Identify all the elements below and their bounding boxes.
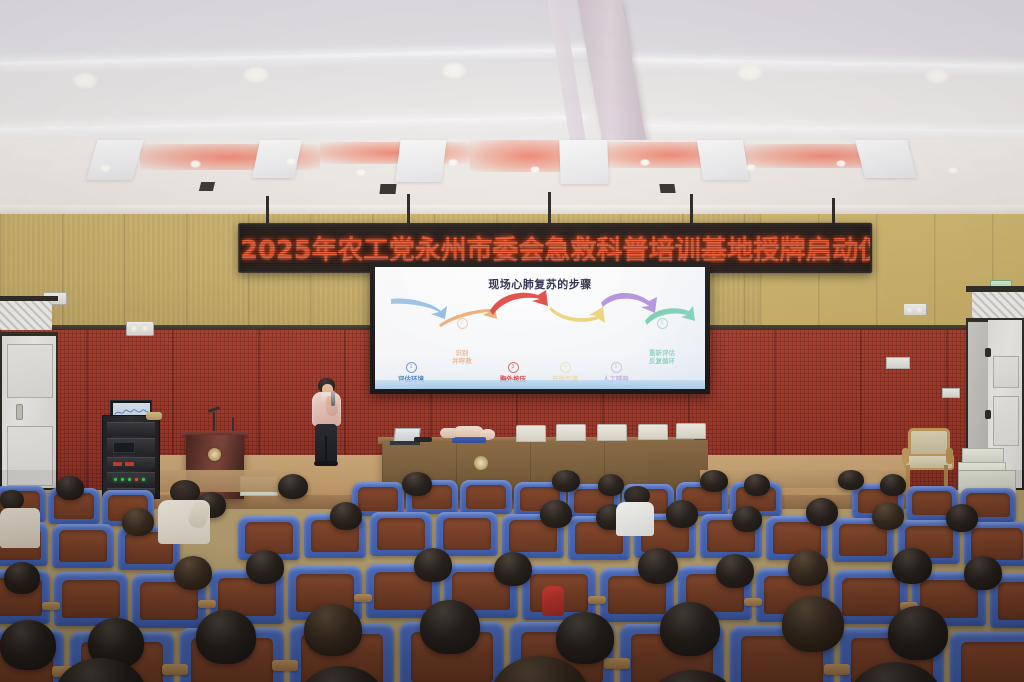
audience-head	[552, 470, 580, 492]
audience-head	[56, 476, 84, 500]
rack-display	[113, 442, 135, 453]
banner-suspension-rod	[690, 194, 693, 226]
emergency-light-fixture	[903, 303, 927, 316]
audience-head	[880, 474, 906, 496]
soffit-spotlight	[356, 169, 366, 176]
seat-armrest	[744, 598, 762, 606]
handheld-microphone[interactable]	[331, 391, 335, 406]
audience-head	[666, 500, 698, 528]
wall-sign-plate	[886, 357, 910, 369]
banner-suspension-rod	[832, 198, 835, 226]
audience-head	[174, 556, 212, 590]
ceiling-fin	[86, 140, 143, 180]
door-panel	[993, 356, 1019, 388]
banner-suspension-rod	[548, 192, 551, 226]
person-white-shirt	[616, 502, 654, 536]
audience-person-red-sleeve	[536, 580, 570, 620]
white-chair	[638, 424, 668, 440]
seat-cushion	[773, 522, 821, 554]
lectern-emblem	[208, 448, 221, 461]
door-hinge	[985, 410, 991, 419]
white-chair	[676, 423, 706, 439]
audience-head	[246, 550, 284, 584]
ceiling-speaker	[659, 184, 675, 193]
seat-armrest	[824, 664, 850, 675]
manikin-base-pad	[452, 437, 486, 443]
audience-head	[872, 502, 904, 530]
emergency-light-fixture	[126, 321, 154, 336]
audience-head	[4, 562, 40, 594]
ceiling-downlight	[441, 62, 467, 79]
seat-cushion	[961, 642, 1024, 682]
table-row[interactable]	[460, 480, 512, 514]
audience-head	[892, 548, 932, 584]
seat-cushion	[466, 485, 507, 509]
audience-head	[782, 596, 844, 652]
audience-head	[788, 550, 828, 586]
soffit-spotlight	[286, 158, 296, 165]
seat-armrest	[162, 664, 188, 675]
door-transom-grille-right	[972, 292, 1024, 318]
presenter	[306, 378, 344, 466]
white-chair	[597, 424, 627, 441]
seat-cushion	[62, 580, 120, 619]
audience-head	[964, 556, 1002, 590]
seat-cushion	[245, 522, 293, 554]
rack-button[interactable]	[125, 462, 134, 466]
seat-back	[460, 480, 512, 514]
emergency-lamp	[906, 306, 913, 313]
seat-cushion	[377, 518, 425, 550]
cpr-manikin[interactable]	[440, 424, 498, 444]
door-hinge	[985, 348, 991, 357]
wall-sign-plate	[942, 388, 960, 398]
presenter-trouser-split	[325, 436, 327, 462]
seat-back	[436, 512, 498, 556]
audience-head	[122, 508, 154, 536]
screen-glare	[375, 267, 705, 389]
audience-head	[304, 604, 362, 656]
seat-back	[950, 632, 1024, 682]
projection-screen: 现场心肺复苏的步骤 1 评估环境	[375, 267, 705, 389]
door-transom-grille-left	[0, 300, 52, 330]
door-frame-left	[0, 332, 58, 490]
seat-cushion	[998, 582, 1024, 621]
rack-unit	[107, 422, 155, 436]
audience-seating	[0, 470, 1024, 682]
demo-table-emblem	[474, 456, 488, 470]
soffit-spotlight	[448, 159, 458, 166]
soffit-spotlight	[530, 166, 540, 173]
ceiling-fin	[559, 140, 609, 184]
audience-head	[414, 548, 452, 582]
projection-screen-frame: 现场心肺复苏的步骤 1 评估环境	[370, 262, 710, 394]
emergency-lamp	[141, 324, 149, 332]
cove-light-strip-right-lower	[636, 124, 1024, 133]
ceiling-speaker	[199, 182, 215, 191]
soffit-spotlight	[836, 160, 846, 167]
audience-head	[638, 548, 678, 584]
ceiling-downlight	[925, 68, 949, 84]
soffit-spotlight	[746, 164, 756, 171]
table-dark-item	[414, 437, 432, 442]
audience-head	[700, 470, 728, 492]
soffit-spotlight	[640, 159, 650, 166]
rack-unit	[107, 438, 155, 455]
presenter-shoes	[314, 461, 338, 466]
seat-armrest	[272, 660, 298, 671]
table-row[interactable]	[436, 512, 498, 556]
person-hair	[0, 490, 24, 510]
ceiling-fin	[697, 140, 749, 180]
audience-person-side	[0, 490, 46, 550]
seat-back	[52, 524, 114, 568]
table-row[interactable]	[52, 524, 114, 568]
seat-armrest	[198, 600, 216, 608]
banner-suspension-rod	[407, 194, 410, 226]
audience-head	[540, 500, 572, 528]
table-row[interactable]	[950, 632, 1024, 682]
white-chair	[516, 425, 546, 442]
person-red-sleeve	[542, 586, 564, 616]
ceiling-downlight	[72, 72, 98, 89]
banner-suspension-rod	[266, 196, 269, 226]
seat-cushion	[358, 487, 399, 511]
door-header-left	[0, 296, 58, 301]
seat-armrest	[42, 602, 60, 610]
door-handle[interactable]	[16, 404, 23, 420]
audience-head	[278, 474, 308, 499]
door-panel	[7, 344, 53, 398]
audience-head	[838, 470, 864, 490]
audience-head	[494, 552, 532, 586]
person-jacket	[0, 508, 40, 548]
soffit-spotlight	[948, 167, 958, 174]
seat-armrest	[604, 658, 630, 669]
audience-head	[806, 498, 838, 526]
white-chair	[556, 424, 586, 441]
audience-head	[888, 606, 948, 660]
audience-person-side	[152, 480, 218, 546]
seat-armrest	[588, 596, 606, 604]
door-header-right	[966, 286, 1024, 292]
audience-head	[732, 506, 762, 532]
audience-head	[330, 502, 362, 530]
rack-unit	[107, 457, 155, 470]
audience-head	[716, 554, 754, 588]
photo-scene: 2025年农工党永州市委会急救科普培训基地授牌启动仪式 现场心肺复苏的步骤	[0, 0, 1024, 682]
ceiling-fin	[855, 140, 917, 178]
manikin-legs	[440, 428, 456, 438]
audience-head	[744, 474, 770, 496]
rack-button[interactable]	[113, 462, 122, 466]
ceiling-speaker	[379, 184, 396, 194]
ceiling-fin	[395, 140, 446, 182]
ceiling-downlight	[243, 66, 269, 83]
audience-person-white-shirt	[614, 486, 656, 538]
ceiling-downlight	[737, 64, 763, 81]
audience-head	[0, 620, 56, 670]
emergency-lamp	[130, 324, 138, 332]
door-left[interactable]	[2, 336, 56, 488]
audience-head	[420, 600, 480, 654]
seat-cushion	[443, 518, 491, 550]
soffit-spotlight	[190, 160, 201, 168]
emergency-lamp	[916, 306, 923, 313]
audience-head	[402, 472, 432, 496]
soffit-spotlight	[100, 164, 111, 172]
seat-cushion	[971, 528, 1022, 560]
armchair-armrest	[902, 448, 909, 464]
seat-cushion	[912, 491, 953, 515]
armchair-armrest	[946, 448, 953, 464]
audience-head	[660, 602, 720, 656]
seat-armrest	[354, 594, 372, 602]
ceiling	[0, 0, 1024, 215]
door-panel	[993, 396, 1019, 446]
seat-cushion	[59, 530, 107, 562]
rack-top-object	[146, 412, 162, 420]
cove-light-strip-left-lower	[0, 116, 586, 131]
seat-cushion	[842, 578, 900, 617]
audience-head	[196, 610, 256, 664]
audience-head	[946, 504, 978, 532]
